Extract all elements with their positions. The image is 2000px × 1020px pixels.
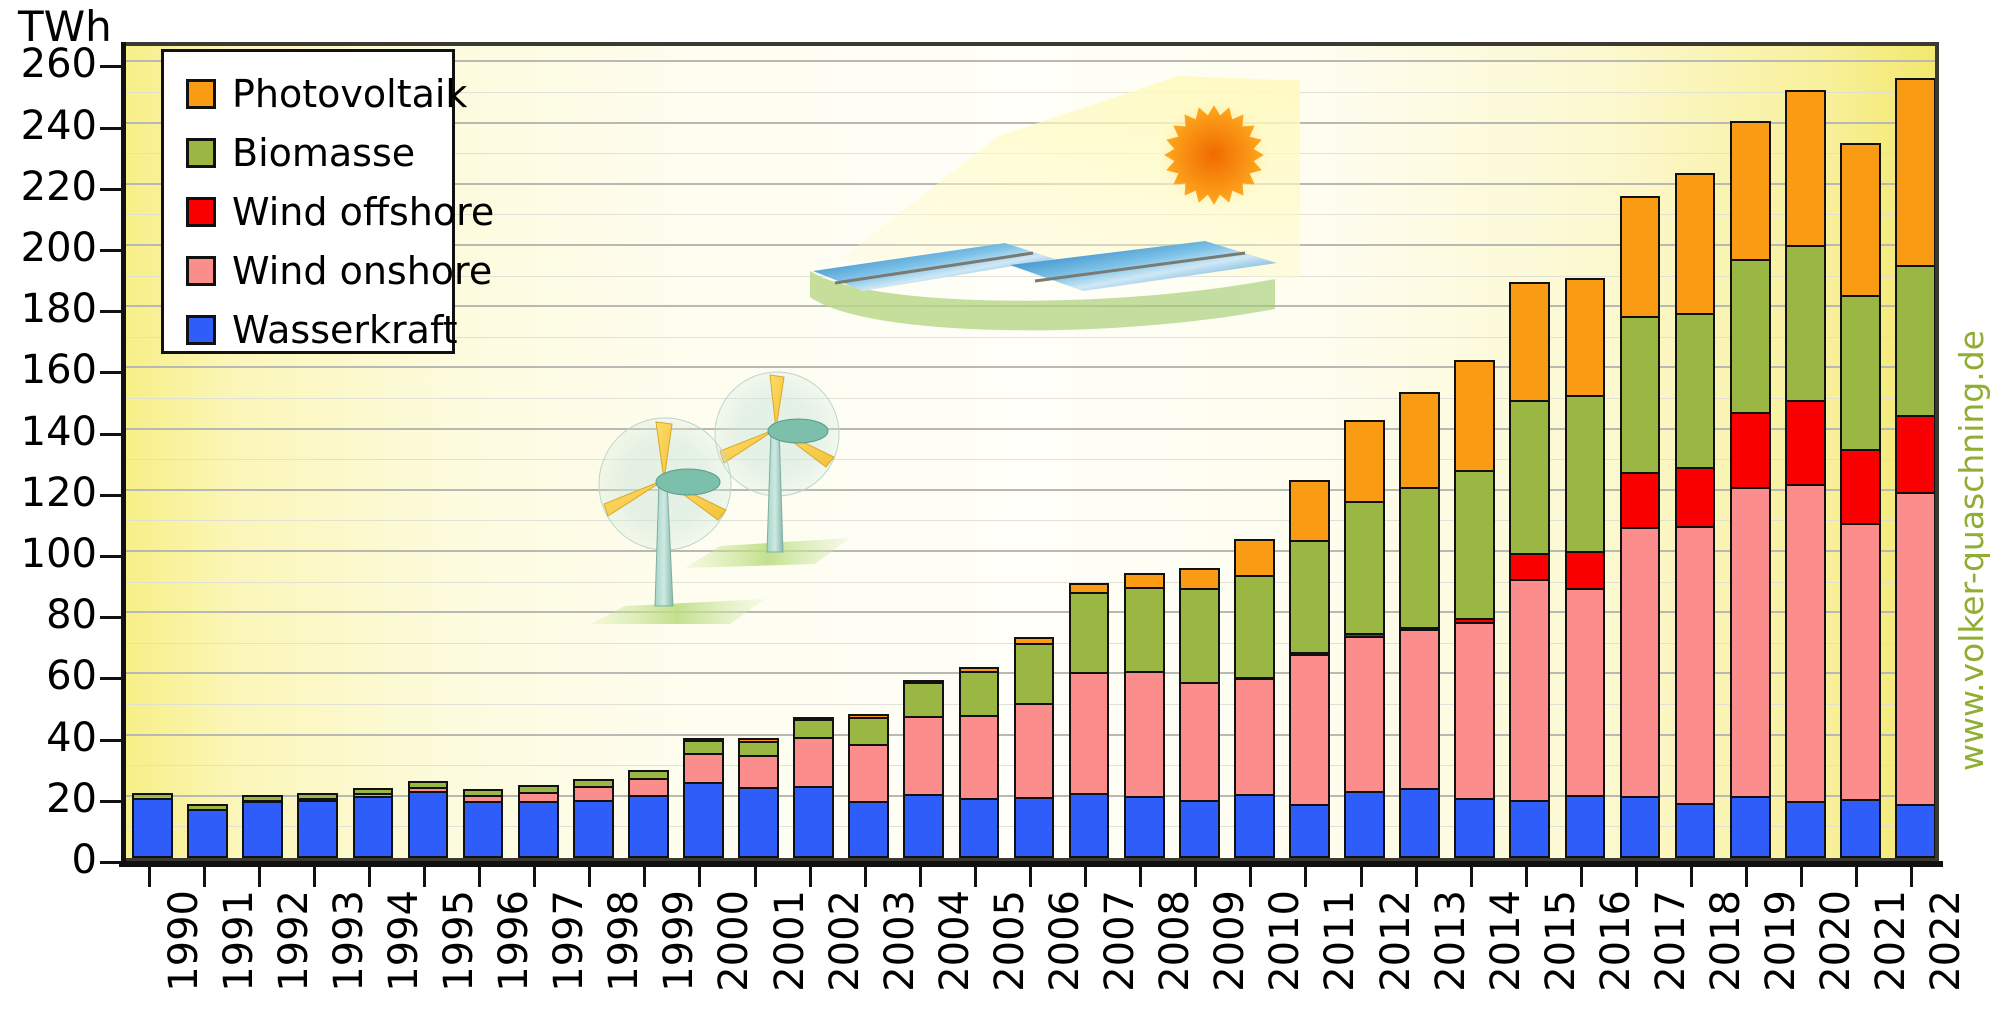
bar-segment[interactable] — [903, 682, 944, 716]
bar-segment[interactable] — [1179, 682, 1220, 800]
legend-item-wind_on[interactable]: Wind onshore — [186, 241, 452, 300]
bar-segment[interactable] — [959, 798, 1000, 858]
x-axis-tick — [754, 867, 757, 887]
bar-segment[interactable] — [1840, 143, 1881, 294]
bar-segment[interactable] — [353, 796, 394, 858]
x-axis-tick — [1304, 867, 1307, 887]
bar-segment[interactable] — [1069, 583, 1110, 592]
bar-segment[interactable] — [1124, 671, 1165, 795]
legend-label: Wind onshore — [232, 252, 492, 290]
bar-segment[interactable] — [1620, 527, 1661, 796]
x-axis-tick-label: 2013 — [1431, 890, 1471, 992]
x-axis-tick — [974, 867, 977, 887]
bar-segment[interactable] — [1785, 801, 1826, 858]
x-axis-tick-label: 2016 — [1596, 890, 1636, 992]
x-axis-tick-label: 1997 — [549, 890, 589, 992]
y-axis-tick-label: 160 — [21, 350, 97, 390]
x-axis-tick-label: 2000 — [714, 890, 754, 992]
bar-segment[interactable] — [793, 786, 834, 859]
bar-segment[interactable] — [1620, 472, 1661, 527]
chart-root: TWh — [0, 0, 2000, 1020]
x-axis-tick — [1470, 867, 1473, 887]
y-axis-tick-label: 180 — [21, 289, 97, 329]
x-axis-tick-label: 2019 — [1761, 890, 1801, 992]
bar-segment[interactable] — [628, 778, 669, 795]
bar-segment[interactable] — [1509, 400, 1550, 553]
legend: PhotovoltaikBiomasseWind offshoreWind on… — [161, 49, 455, 354]
bar-segment[interactable] — [353, 793, 394, 796]
y-axis-tick — [100, 65, 122, 68]
bar-segment[interactable] — [1069, 592, 1110, 671]
legend-label: Wind offshore — [232, 193, 494, 231]
bar-segment[interactable] — [1234, 539, 1275, 575]
legend-swatch-bio — [186, 138, 216, 168]
bar-segment[interactable] — [1895, 78, 1936, 265]
bar-segment[interactable] — [1675, 803, 1716, 858]
legend-label: Photovoltaik — [232, 75, 467, 113]
x-axis-tick — [313, 867, 316, 887]
y-axis-tick-label: 60 — [46, 656, 97, 696]
x-axis-tick — [1415, 867, 1418, 887]
bar-segment[interactable] — [1509, 553, 1550, 578]
x-axis-tick — [1800, 867, 1803, 887]
bar-segment[interactable] — [1565, 588, 1606, 795]
bar-segment[interactable] — [1399, 392, 1440, 487]
y-axis-tick-label: 240 — [21, 106, 97, 146]
bar-segment[interactable] — [1730, 121, 1771, 258]
bar-segment[interactable] — [1454, 360, 1495, 470]
bar-segment[interactable] — [1565, 795, 1606, 858]
bar-segment[interactable] — [903, 716, 944, 794]
bar-segment[interactable] — [848, 717, 889, 745]
x-axis-tick-label: 2009 — [1210, 890, 1250, 992]
x-axis-tick-label: 2017 — [1651, 890, 1691, 992]
bar-segment[interactable] — [1179, 588, 1220, 682]
x-axis-tick — [1084, 867, 1087, 887]
bar-segment[interactable] — [1620, 196, 1661, 317]
legend-swatch-wind_on — [186, 256, 216, 286]
bar-segment[interactable] — [628, 770, 669, 778]
bar-segment[interactable] — [1785, 245, 1826, 400]
bar-segment[interactable] — [1289, 540, 1330, 653]
bar-segment[interactable] — [1509, 282, 1550, 400]
bar-segment[interactable] — [1344, 636, 1385, 792]
x-axis-tick — [643, 867, 646, 887]
bar-segment[interactable] — [1124, 573, 1165, 586]
x-axis-tick-label: 1991 — [219, 890, 259, 992]
x-axis-tick-label: 1992 — [274, 890, 314, 992]
bar-segment[interactable] — [1620, 316, 1661, 472]
bar-segment[interactable] — [297, 800, 338, 858]
bar-segment[interactable] — [518, 801, 559, 858]
x-axis-tick — [1855, 867, 1858, 887]
x-axis-tick-label: 1993 — [329, 890, 369, 992]
y-axis-tick-label: 200 — [21, 228, 97, 268]
x-axis-tick — [478, 867, 481, 887]
x-axis-tick-label: 2014 — [1486, 890, 1526, 992]
bar-segment[interactable] — [1344, 420, 1385, 501]
bar-segment[interactable] — [1785, 400, 1826, 484]
y-axis-tick — [100, 739, 122, 742]
bar-segment[interactable] — [1069, 672, 1110, 793]
bar-segment[interactable] — [1234, 575, 1275, 678]
bar-segment[interactable] — [408, 791, 449, 858]
x-axis-tick — [1690, 867, 1693, 887]
y-axis-tick — [100, 310, 122, 313]
y-axis-tick — [100, 616, 122, 619]
x-axis-tick-label: 2018 — [1706, 890, 1746, 992]
x-axis-tick-label: 1995 — [439, 890, 479, 992]
legend-item-bio[interactable]: Biomasse — [186, 123, 452, 182]
bar-segment[interactable] — [132, 793, 173, 797]
x-axis-tick — [698, 867, 701, 887]
legend-item-wind_off[interactable]: Wind offshore — [186, 182, 452, 241]
x-axis-tick-label: 1994 — [384, 890, 424, 992]
bar-segment[interactable] — [1454, 618, 1495, 622]
legend-item-hydro[interactable]: Wasserkraft — [186, 300, 452, 359]
bar-segment[interactable] — [683, 753, 724, 782]
bar-segment[interactable] — [1675, 313, 1716, 467]
x-axis-tick-label: 2006 — [1045, 890, 1085, 992]
y-axis-tick-label: 140 — [21, 412, 97, 452]
bar-segment[interactable] — [1454, 470, 1495, 618]
bar-segment[interactable] — [683, 738, 724, 741]
bar-segment[interactable] — [1454, 798, 1495, 858]
bar-segment[interactable] — [738, 738, 779, 741]
bar-segment[interactable] — [959, 667, 1000, 671]
y-axis-tick — [100, 677, 122, 680]
x-axis-tick-label: 2011 — [1320, 890, 1360, 992]
bar-segment[interactable] — [1730, 487, 1771, 797]
bar-segment[interactable] — [1234, 794, 1275, 858]
bar-segment[interactable] — [1234, 678, 1275, 794]
bar-segment[interactable] — [1399, 487, 1440, 627]
bar-segment[interactable] — [1730, 259, 1771, 412]
bar-segment[interactable] — [1730, 412, 1771, 487]
bar-segment[interactable] — [1344, 501, 1385, 633]
bar-segment[interactable] — [1344, 633, 1385, 636]
bar-segment[interactable] — [573, 800, 614, 858]
x-axis-tick — [423, 867, 426, 887]
bar-segment[interactable] — [518, 792, 559, 801]
bar-segment[interactable] — [1675, 173, 1716, 313]
bar-segment[interactable] — [1785, 90, 1826, 245]
bar-segment[interactable] — [959, 715, 1000, 798]
legend-label: Biomasse — [232, 134, 415, 172]
bar-segment[interactable] — [1289, 654, 1330, 804]
bar-segment[interactable] — [463, 789, 504, 795]
y-axis-tick-label: 100 — [21, 534, 97, 574]
y-axis-tick — [100, 494, 122, 497]
bar-segment[interactable] — [408, 781, 449, 787]
bar-segment[interactable] — [1895, 492, 1936, 804]
bar-segment[interactable] — [1014, 703, 1055, 797]
bar-segment[interactable] — [408, 787, 449, 792]
x-axis-tick — [1635, 867, 1638, 887]
x-axis-tick — [1029, 867, 1032, 887]
x-axis-tick-label: 1996 — [494, 890, 534, 992]
bar-segment[interactable] — [1124, 796, 1165, 858]
bar-segment[interactable] — [1399, 788, 1440, 858]
y-axis-tick-label: 80 — [46, 595, 97, 635]
bar-segment[interactable] — [1675, 526, 1716, 803]
bar-segment[interactable] — [353, 788, 394, 794]
x-axis-tick — [1580, 867, 1583, 887]
bar-segment[interactable] — [738, 787, 779, 858]
x-axis-tick-label: 2002 — [825, 890, 865, 992]
x-axis-tick — [203, 867, 206, 887]
x-axis-tick — [258, 867, 261, 887]
x-axis-tick-label: 2004 — [935, 890, 975, 992]
bar-segment[interactable] — [683, 782, 724, 858]
x-axis-tick — [919, 867, 922, 887]
y-axis-tick — [100, 555, 122, 558]
legend-item-pv[interactable]: Photovoltaik — [186, 64, 452, 123]
bar-segment[interactable] — [793, 737, 834, 785]
x-axis-tick — [588, 867, 591, 887]
bar-segment[interactable] — [1399, 629, 1440, 787]
x-axis-tick-label: 2001 — [770, 890, 810, 992]
x-axis-tick-label: 2008 — [1155, 890, 1195, 992]
bar-segment[interactable] — [1289, 804, 1330, 858]
bar-segment[interactable] — [738, 741, 779, 755]
bar-segment[interactable] — [959, 671, 1000, 715]
bar-segment[interactable] — [242, 801, 283, 858]
bar-segment[interactable] — [463, 801, 504, 858]
bar-segment[interactable] — [242, 795, 283, 800]
bar-segment[interactable] — [738, 755, 779, 787]
x-axis-tick — [368, 867, 371, 887]
x-axis-tick-label: 2022 — [1926, 890, 1966, 992]
y-axis-tick-label: 120 — [21, 473, 97, 513]
x-axis-tick — [1139, 867, 1142, 887]
y-axis-tick-label: 20 — [46, 779, 97, 819]
x-axis-tick-label: 2021 — [1871, 890, 1911, 992]
bar-segment[interactable] — [573, 779, 614, 786]
y-axis-tick — [100, 800, 122, 803]
x-axis-tick — [148, 867, 151, 887]
x-axis-tick-label: 2015 — [1541, 890, 1581, 992]
bar-segment[interactable] — [573, 786, 614, 800]
x-axis-tick — [1745, 867, 1748, 887]
bar-segment[interactable] — [1289, 480, 1330, 540]
x-axis-tick — [809, 867, 812, 887]
bar-segment[interactable] — [1620, 796, 1661, 858]
bar-segment[interactable] — [1069, 793, 1110, 858]
bar-segment[interactable] — [1509, 579, 1550, 800]
bar-segment[interactable] — [1014, 637, 1055, 644]
y-axis-tick-label: 0 — [72, 840, 97, 880]
bar-segment[interactable] — [132, 798, 173, 858]
bar-segment[interactable] — [793, 719, 834, 737]
bar-segment[interactable] — [683, 740, 724, 753]
bar-segment[interactable] — [903, 794, 944, 858]
bar-segment[interactable] — [848, 714, 889, 717]
bar-segment[interactable] — [1840, 295, 1881, 449]
bar-segment[interactable] — [1785, 484, 1826, 801]
x-axis-tick — [533, 867, 536, 887]
x-axis-tick — [1249, 867, 1252, 887]
x-axis-tick-label: 1990 — [164, 890, 204, 992]
bar-segment[interactable] — [187, 804, 228, 808]
x-axis-tick-label: 2020 — [1816, 890, 1856, 992]
bar-segment[interactable] — [1840, 523, 1881, 799]
bar-segment[interactable] — [1344, 791, 1385, 858]
y-axis-tick — [100, 371, 122, 374]
bar-segment[interactable] — [1179, 800, 1220, 858]
y-axis-tick-label: 220 — [21, 167, 97, 207]
legend-swatch-hydro — [186, 315, 216, 345]
x-axis-tick-label: 1999 — [659, 890, 699, 992]
bar-segment[interactable] — [187, 809, 228, 858]
bar-segment[interactable] — [848, 744, 889, 801]
x-axis-tick — [1360, 867, 1363, 887]
y-axis-tick — [100, 188, 122, 191]
bar-segment[interactable] — [1565, 551, 1606, 589]
bar-segment[interactable] — [628, 795, 669, 858]
bar-segment[interactable] — [1895, 804, 1936, 858]
bar-segment[interactable] — [1565, 395, 1606, 551]
bar-segment[interactable] — [1895, 265, 1936, 415]
bar-segment[interactable] — [1509, 800, 1550, 858]
x-axis-tick-label: 2005 — [990, 890, 1030, 992]
watermark-link[interactable]: www.volker-quaschning.de — [1952, 330, 1991, 771]
x-axis-tick-label: 1998 — [604, 890, 644, 992]
y-axis-tick — [100, 433, 122, 436]
y-axis-tick — [100, 249, 122, 252]
bar-segment[interactable] — [903, 680, 944, 683]
bar-segment[interactable] — [1124, 587, 1165, 671]
x-axis-tick-label: 2010 — [1265, 890, 1305, 992]
y-axis-tick — [100, 127, 122, 130]
legend-swatch-wind_off — [186, 197, 216, 227]
bar-segment[interactable] — [793, 717, 834, 720]
y-axis-tick-label: 260 — [21, 44, 97, 84]
legend-swatch-pv — [186, 79, 216, 109]
bar-segment[interactable] — [1014, 643, 1055, 703]
bar-segment[interactable] — [1840, 449, 1881, 523]
x-axis-tick-label: 2007 — [1100, 890, 1140, 992]
y-axis-tick-label: 40 — [46, 718, 97, 758]
x-axis-tick — [1910, 867, 1913, 887]
legend-label: Wasserkraft — [232, 311, 458, 349]
bar-segment[interactable] — [1014, 797, 1055, 858]
bar-segment[interactable] — [463, 795, 504, 801]
bar-segment[interactable] — [1565, 278, 1606, 395]
x-axis-tick — [864, 867, 867, 887]
bar-segment[interactable] — [848, 801, 889, 858]
bar-segment[interactable] — [1895, 415, 1936, 492]
bar-segment[interactable] — [297, 793, 338, 799]
bar-segment[interactable] — [1179, 568, 1220, 588]
bar-segment[interactable] — [1454, 622, 1495, 798]
x-axis-tick-label: 2003 — [880, 890, 920, 992]
bar-segment[interactable] — [1675, 467, 1716, 526]
x-axis-tick — [1525, 867, 1528, 887]
x-axis-tick — [1194, 867, 1197, 887]
x-axis-tick-label: 2012 — [1376, 890, 1416, 992]
bar-segment[interactable] — [1399, 627, 1440, 630]
bar-segment[interactable] — [518, 785, 559, 792]
bar-segment[interactable] — [1730, 796, 1771, 858]
bar-segment[interactable] — [1840, 799, 1881, 858]
